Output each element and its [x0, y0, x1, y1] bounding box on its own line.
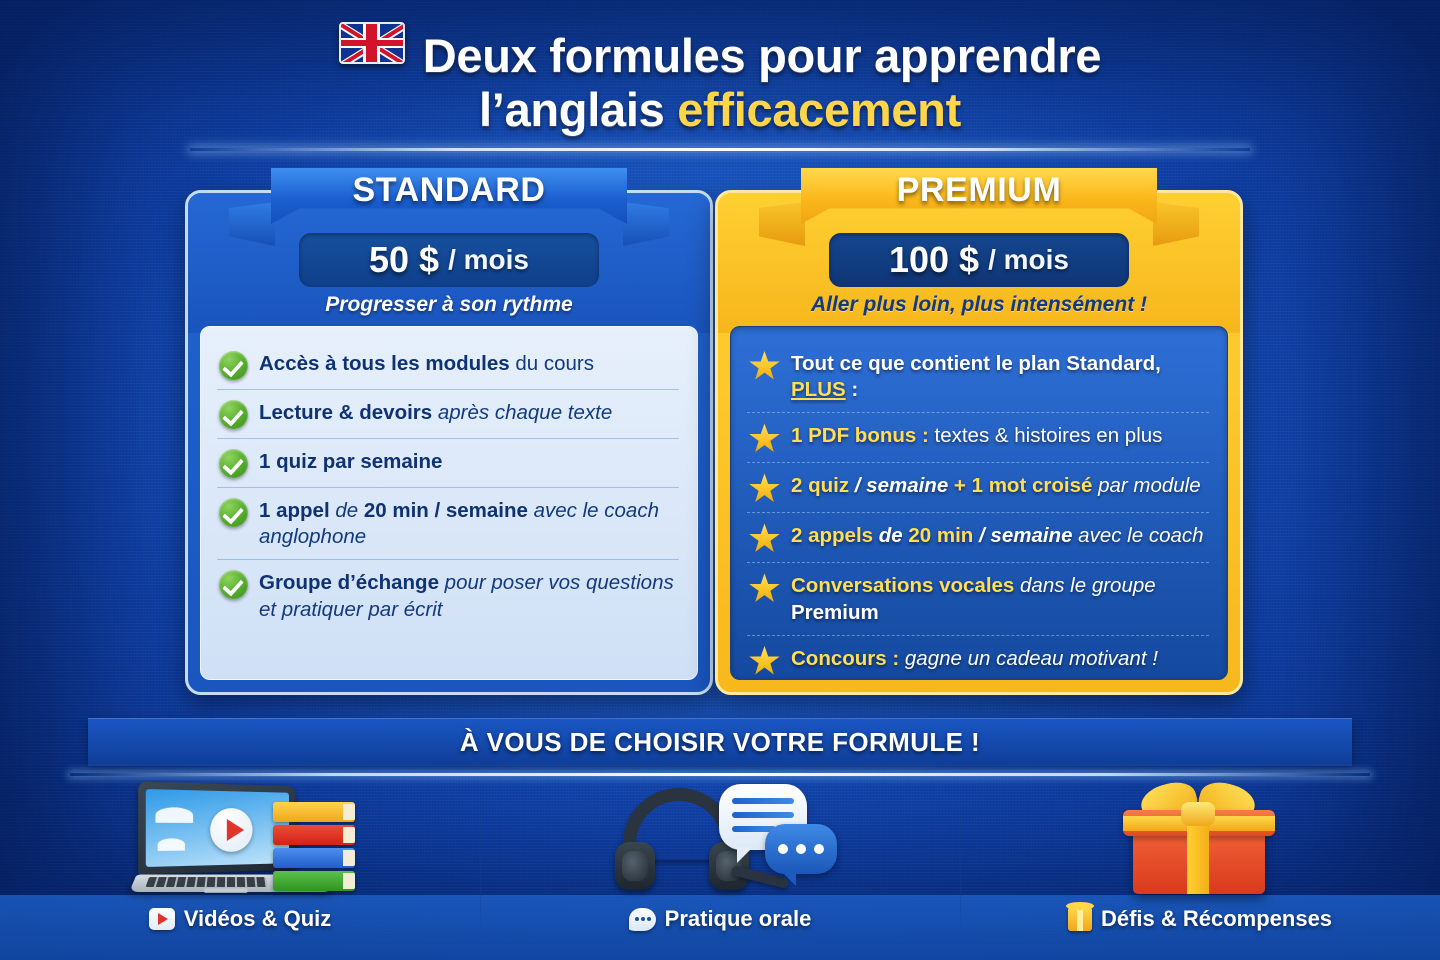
premium-card-frame: 100 $ / mois Aller plus loin, plus inten…	[715, 190, 1243, 695]
title-text-1: Deux formules pour apprendre	[423, 29, 1101, 82]
poster-header: Deux formules pour apprendre l’anglais e…	[0, 22, 1440, 136]
feature-mid-2: / semaine	[973, 524, 1072, 547]
feature-strong: Groupe d’échange	[259, 571, 439, 594]
cta-section: À VOUS DE CHOISIR VOTRE FORMULE !	[0, 718, 1440, 776]
feature-text: Concours : gagne un cadeau motivant !	[791, 645, 1158, 672]
footer-label-rewards: Défis & Récompenses	[1068, 906, 1332, 932]
plan-card-premium[interactable]: 100 $ / mois Aller plus loin, plus inten…	[715, 190, 1243, 695]
feature-text: 1 quiz par semaine	[259, 448, 442, 475]
standard-price-pill: 50 $ / mois	[299, 233, 599, 287]
feature-mid: de	[873, 524, 908, 547]
feature-white: Tout ce que contient le plan Standard,	[791, 352, 1161, 375]
laptop-video-books-illustration	[133, 775, 348, 900]
feature-row: 1 quiz par semaine	[217, 438, 679, 487]
laptop-trackpad	[203, 888, 247, 892]
feature-strong: 1 quiz par semaine	[259, 450, 442, 473]
feature-rest: du cours	[510, 352, 594, 375]
feature-strong: Concours :	[791, 647, 899, 670]
footer-section: Vidéos & Quiz Pratique orale	[0, 775, 1440, 960]
uk-flag-icon	[339, 22, 405, 64]
feature-tail: :	[846, 378, 859, 401]
pricing-poster: Deux formules pour apprendre l’anglais e…	[0, 0, 1440, 960]
premium-ribbon-label: PREMIUM	[897, 171, 1062, 210]
footer-label-oral: Pratique orale	[629, 906, 812, 932]
gift-box-illustration	[1115, 775, 1285, 900]
feature-row: 2 appels de 20 min / semaine avec le coa…	[747, 512, 1209, 562]
footer-column-videos: Vidéos & Quiz	[0, 775, 480, 960]
footer-label-videos: Vidéos & Quiz	[149, 906, 332, 932]
feature-text: 1 appel de 20 min / semaine avec le coac…	[259, 497, 679, 550]
play-button-icon	[149, 908, 175, 930]
check-icon	[219, 449, 248, 478]
feature-rest: textes & histoires en plus	[929, 424, 1163, 447]
feature-row: Concours : gagne un cadeau motivant !	[747, 635, 1209, 685]
check-icon	[219, 498, 248, 527]
plan-card-standard[interactable]: 50 $ / mois Progresser à son rythme Accè…	[185, 190, 713, 695]
footer-column-oral: Pratique orale	[480, 775, 960, 960]
check-icon	[219, 570, 248, 599]
chat-bubble-dots-icon	[765, 824, 837, 874]
laptop-icon	[133, 780, 348, 900]
book-item	[273, 802, 355, 822]
gift-icon	[1068, 907, 1092, 931]
laptop-screen	[138, 781, 295, 874]
feature-row: 1 PDF bonus : textes & histoires en plus	[747, 412, 1209, 462]
check-icon	[219, 351, 248, 380]
feature-strong-2: + 1 mot croisé	[948, 474, 1092, 497]
feature-rest: avec le coach	[1072, 524, 1203, 547]
feature-bold-white: Premium	[791, 601, 879, 624]
premium-feature-list: Tout ce que contient le plan Standard, P…	[730, 326, 1228, 680]
header-divider	[190, 148, 1250, 151]
premium-price-unit: / mois	[988, 244, 1069, 276]
star-icon	[749, 523, 780, 553]
gift-bow-knot	[1181, 802, 1215, 826]
cloud-shape	[157, 838, 184, 851]
feature-row: Tout ce que contient le plan Standard, P…	[747, 341, 1209, 412]
gift-icon	[1115, 778, 1285, 900]
star-icon	[749, 573, 780, 603]
laptop-display	[145, 789, 288, 867]
book-item	[273, 825, 355, 845]
feature-rest: gagne un cadeau motivant !	[899, 647, 1158, 670]
feature-row: Lecture & devoirs après chaque texte	[217, 389, 679, 438]
feature-underline: PLUS	[791, 378, 846, 401]
feature-strong-2: 20 min / semaine	[364, 499, 528, 522]
footer-label-text: Défis & Récompenses	[1101, 906, 1332, 932]
feature-strong: 1 PDF bonus :	[791, 424, 929, 447]
feature-row: Accès à tous les modules du cours	[217, 341, 679, 389]
footer-column-rewards: Défis & Récompenses	[960, 775, 1440, 960]
feature-strong: 1 appel	[259, 499, 330, 522]
feature-row: 1 appel de 20 min / semaine avec le coac…	[217, 487, 679, 559]
feature-text: 2 appels de 20 min / semaine avec le coa…	[791, 522, 1204, 549]
feature-strong-2: 20 min	[908, 524, 973, 547]
feature-text: Tout ce que contient le plan Standard, P…	[791, 350, 1209, 403]
cta-bar[interactable]: À VOUS DE CHOISIR VOTRE FORMULE !	[88, 718, 1352, 766]
star-icon	[749, 473, 780, 503]
book-item	[273, 848, 355, 868]
chat-bubble-icon	[629, 908, 656, 931]
feature-text: Lecture & devoirs après chaque texte	[259, 399, 612, 426]
footer-label-text: Pratique orale	[665, 906, 812, 932]
premium-price-amount: 100 $	[889, 239, 979, 281]
headset-chat-bubbles-illustration	[605, 775, 835, 900]
feature-text: Accès à tous les modules du cours	[259, 350, 594, 377]
premium-price-pill: 100 $ / mois	[829, 233, 1129, 287]
book-item	[273, 871, 355, 891]
feature-strong: Accès à tous les modules	[259, 352, 510, 375]
feature-mid: dans le groupe	[1014, 574, 1155, 597]
laptop-keyboard	[145, 877, 267, 887]
headset-icon	[605, 780, 835, 900]
feature-strong: 2 quiz	[791, 474, 849, 497]
feature-text: 2 quiz / semaine + 1 mot croisé par modu…	[791, 472, 1201, 499]
star-icon	[749, 351, 780, 381]
feature-row: Conversations vocales dans le groupe Pre…	[747, 562, 1209, 634]
standard-ribbon-label: STANDARD	[352, 171, 545, 210]
star-icon	[749, 423, 780, 453]
cta-label: À VOUS DE CHOISIR VOTRE FORMULE !	[460, 727, 980, 758]
footer-label-text: Vidéos & Quiz	[184, 906, 332, 932]
books-stack-icon	[273, 802, 359, 898]
feature-row: Groupe d’échange pour poser vos question…	[217, 559, 679, 631]
title-accent-word: efficacement	[677, 83, 961, 136]
standard-tagline: Progresser à son rythme	[188, 293, 710, 317]
headset-earcup-left	[615, 842, 655, 890]
title-text-2: l’anglais	[479, 83, 677, 136]
premium-tagline: Aller plus loin, plus intensément !	[718, 293, 1240, 317]
standard-price-unit: / mois	[448, 244, 529, 276]
feature-strong: 2 appels	[791, 524, 873, 547]
feature-text: Conversations vocales dans le groupe Pre…	[791, 572, 1209, 625]
feature-strong: Conversations vocales	[791, 574, 1014, 597]
title-line-2: l’anglais efficacement	[0, 83, 1440, 137]
star-icon	[749, 646, 780, 676]
check-icon	[219, 400, 248, 429]
feature-rest: par module	[1092, 474, 1200, 497]
feature-mid: / semaine	[849, 474, 948, 497]
standard-card-frame: 50 $ / mois Progresser à son rythme Accè…	[185, 190, 713, 695]
footer-columns: Vidéos & Quiz Pratique orale	[0, 775, 1440, 960]
feature-text: 1 PDF bonus : textes & histoires en plus	[791, 422, 1162, 449]
play-button-icon	[210, 808, 252, 852]
feature-mid: de	[330, 499, 364, 522]
standard-feature-list: Accès à tous les modules du cours Lectur…	[200, 326, 698, 680]
title-line-1: Deux formules pour apprendre	[0, 22, 1440, 83]
standard-price-amount: 50 $	[369, 239, 439, 281]
feature-strong: Lecture & devoirs	[259, 401, 432, 424]
feature-text: Groupe d’échange pour poser vos question…	[259, 569, 679, 622]
cloud-shape	[155, 807, 193, 823]
feature-row: 2 quiz / semaine + 1 mot croisé par modu…	[747, 462, 1209, 512]
feature-rest: après chaque texte	[432, 401, 612, 424]
plan-cards: 50 $ / mois Progresser à son rythme Accè…	[0, 190, 1440, 700]
